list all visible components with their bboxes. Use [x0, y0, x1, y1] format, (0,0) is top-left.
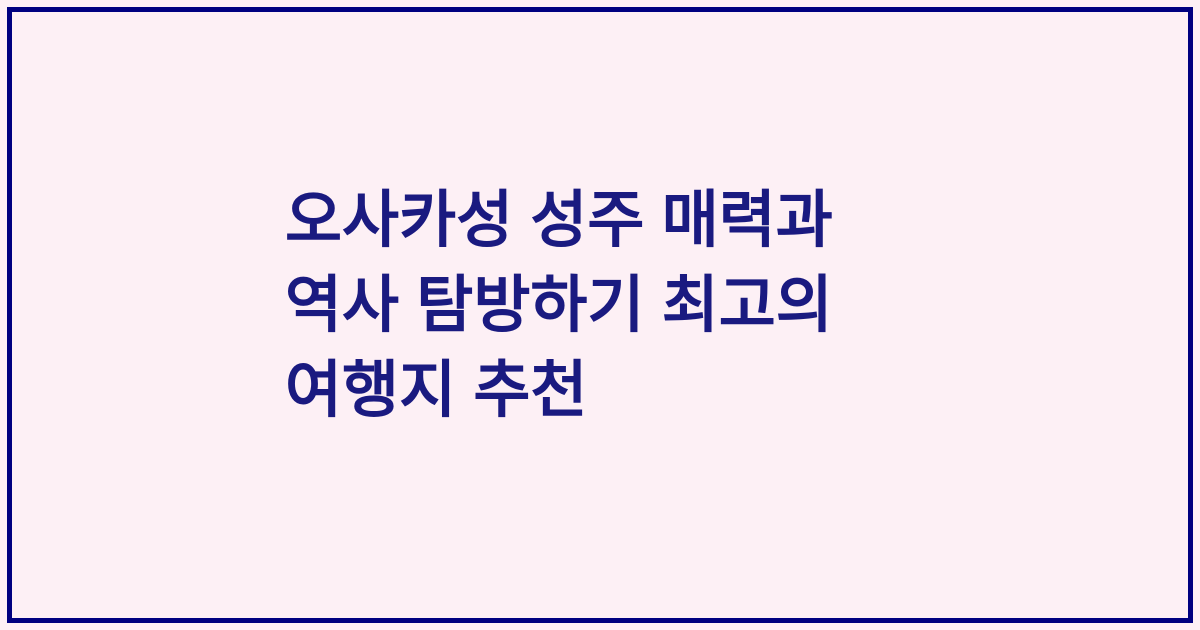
- headline-line-3: 여행지 추천: [285, 348, 985, 433]
- headline-line-1: 오사카성 성주 매력과: [285, 178, 985, 263]
- headline-block: 오사카성 성주 매력과 역사 탐방하기 최고의 여행지 추천: [285, 178, 985, 433]
- headline-line-2: 역사 탐방하기 최고의: [285, 263, 985, 348]
- title-card: 오사카성 성주 매력과 역사 탐방하기 최고의 여행지 추천: [0, 0, 1200, 630]
